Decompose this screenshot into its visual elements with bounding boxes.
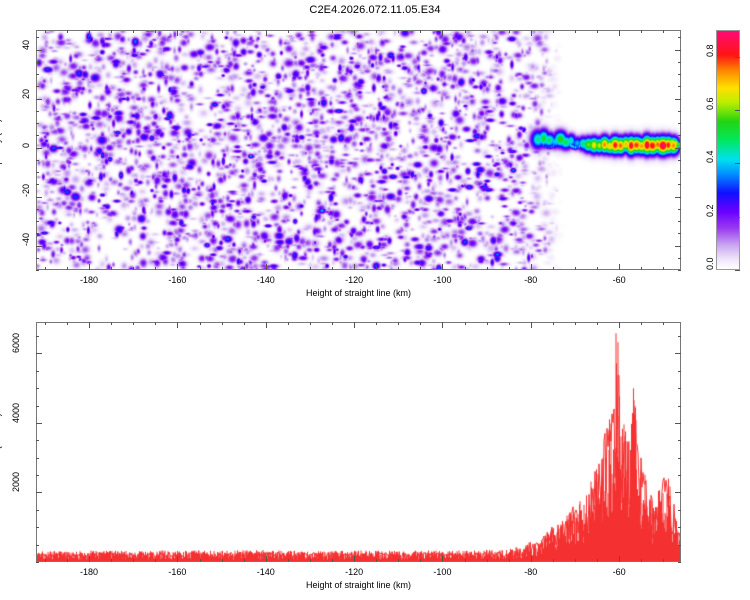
x-tick [641,559,642,562]
x-tick [663,559,664,562]
spectrogram-panel [36,30,681,270]
y-tick [36,37,39,38]
y-tick [675,353,681,354]
y-tick [36,111,39,112]
y-tick [36,492,42,493]
x-tick [398,559,399,562]
spectrogram-x-ticklabel: -160 [168,275,186,285]
x-tick [111,30,112,33]
x-tick [509,322,510,325]
y-tick [678,270,681,271]
x-tick [663,30,664,33]
y-tick [36,258,39,259]
spectrogram-image [36,30,681,270]
x-tick [45,267,46,270]
x-tick [575,267,576,270]
x-tick [155,559,156,562]
x-tick [354,322,355,328]
x-tick [89,556,90,562]
x-tick [45,30,46,33]
x-tick [200,322,201,325]
x-tick [487,267,488,270]
y-tick [678,209,681,210]
x-tick [487,322,488,325]
y-tick [36,62,39,63]
x-tick [354,30,355,36]
x-tick [597,267,598,270]
x-tick [89,264,90,270]
y-tick [36,74,39,75]
y-tick [675,246,681,247]
x-tick [155,267,156,270]
x-tick [553,267,554,270]
y-tick [36,160,39,161]
y-tick [36,148,42,149]
figure-root: C2E4.2026.072.11.05.E34 -180-160-140-120… [0,0,750,600]
x-tick [641,322,642,325]
x-tick [67,559,68,562]
x-tick [155,322,156,325]
x-tick [641,267,642,270]
y-tick [36,388,39,389]
figure-title: C2E4.2026.072.11.05.E34 [0,4,750,16]
colorbar [716,30,740,270]
spectrogram-x-ticklabel: -60 [613,275,626,285]
y-tick [36,209,39,210]
x-tick [575,559,576,562]
y-tick [36,423,42,424]
x-tick [398,30,399,33]
y-tick [678,184,681,185]
x-tick [200,559,201,562]
y-tick [678,388,681,389]
y-tick [678,258,681,259]
y-tick [36,123,39,124]
x-tick [244,30,245,33]
x-tick [288,322,289,325]
x-tick [266,30,267,36]
y-tick [678,475,681,476]
x-tick [89,30,90,36]
colorbar-tick [735,217,740,218]
y-tick [36,371,39,372]
y-tick [36,50,42,51]
x-tick [310,30,311,33]
x-tick [177,30,178,36]
x-tick [111,267,112,270]
colorbar-tick [735,110,740,111]
x-tick [663,267,664,270]
spectrogram-x-ticklabel: -120 [345,275,363,285]
x-tick [465,322,466,325]
x-tick [111,559,112,562]
snr-x-ticklabel: -120 [345,567,363,577]
x-tick [619,322,620,328]
x-tick [155,30,156,33]
spectrogram-plot-area [36,30,681,270]
x-tick [67,267,68,270]
x-tick [442,322,443,328]
x-tick [354,264,355,270]
spectrogram-x-ticklabel: -180 [80,275,98,285]
x-tick [398,267,399,270]
spectrogram-x-axis-title: Height of straight line (km) [306,288,411,298]
y-tick [36,527,39,528]
x-tick [575,322,576,325]
y-tick [678,221,681,222]
y-tick [675,492,681,493]
x-tick [376,322,377,325]
colorbar-tick [735,163,740,164]
x-tick [509,30,510,33]
colorbar-tick [735,270,740,271]
x-tick [487,30,488,33]
y-tick [36,475,39,476]
snr-x-ticklabel: -60 [613,567,626,577]
x-tick [332,322,333,325]
y-tick [678,562,681,563]
x-tick [310,267,311,270]
y-tick [675,99,681,100]
x-tick [420,267,421,270]
x-tick [376,267,377,270]
y-tick [678,160,681,161]
x-tick [597,30,598,33]
x-tick [398,322,399,325]
x-tick [222,322,223,325]
y-tick [678,86,681,87]
snr-x-ticklabel: -100 [433,567,451,577]
spectrogram-y-axis-title: Frequency (Hz) [0,119,2,181]
x-tick [200,30,201,33]
x-tick [354,556,355,562]
y-tick [36,545,39,546]
x-tick [332,267,333,270]
x-tick [244,559,245,562]
x-tick [177,322,178,328]
snr-x-ticklabel: -160 [168,567,186,577]
x-tick [133,559,134,562]
y-tick [36,510,39,511]
x-tick [244,322,245,325]
y-tick [678,527,681,528]
x-tick [288,559,289,562]
x-tick [200,267,201,270]
x-tick [376,559,377,562]
x-tick [111,322,112,325]
y-tick [36,458,39,459]
y-tick [36,406,39,407]
snr-x-ticklabel: -80 [524,567,537,577]
y-tick [36,86,39,87]
spectrogram-x-ticklabel: -80 [524,275,537,285]
x-tick [288,30,289,33]
colorbar-gradient [717,31,739,269]
y-tick [36,221,39,222]
x-tick [487,559,488,562]
x-tick [376,30,377,33]
x-tick [288,267,289,270]
x-tick [465,559,466,562]
x-tick [663,322,664,325]
x-tick [575,30,576,33]
y-tick [36,246,42,247]
x-tick [310,322,311,325]
x-tick [266,556,267,562]
x-tick [222,559,223,562]
y-tick [36,184,39,185]
x-tick [222,267,223,270]
y-tick [36,270,39,271]
x-tick [553,322,554,325]
y-tick [675,50,681,51]
y-tick [36,99,42,100]
x-tick [597,559,598,562]
colorbar-tick [735,57,740,58]
x-tick [553,559,554,562]
x-tick [442,264,443,270]
snr-y-axis-title: SNR (10 ° v/v) [0,413,2,471]
y-tick [36,440,39,441]
y-tick [675,197,681,198]
x-tick [531,30,532,36]
x-tick [531,264,532,270]
y-tick [678,233,681,234]
snr-plot-area [36,322,681,562]
x-tick [420,30,421,33]
x-tick [420,322,421,325]
snr-trace [36,322,681,562]
x-tick [553,30,554,33]
y-tick [678,111,681,112]
x-tick [332,559,333,562]
x-tick [619,264,620,270]
y-tick [678,458,681,459]
snr-x-axis-title: Height of straight line (km) [306,580,411,590]
x-tick [310,559,311,562]
y-tick [678,371,681,372]
x-tick [177,556,178,562]
snr-x-ticklabel: -140 [257,567,275,577]
x-tick [619,30,620,36]
x-tick [222,30,223,33]
y-tick [36,233,39,234]
x-tick [177,264,178,270]
x-tick [442,30,443,36]
x-tick [509,559,510,562]
y-tick [678,406,681,407]
x-tick [465,30,466,33]
y-tick [675,423,681,424]
x-tick [420,559,421,562]
spectrogram-x-ticklabel: -100 [433,275,451,285]
x-tick [531,322,532,328]
spectrogram-x-ticklabel: -140 [257,275,275,285]
x-tick [244,267,245,270]
x-tick [266,322,267,328]
x-tick [465,267,466,270]
snr-panel [36,322,681,562]
x-tick [133,267,134,270]
x-tick [133,322,134,325]
x-tick [332,30,333,33]
y-tick [678,74,681,75]
y-tick [36,172,39,173]
x-tick [67,30,68,33]
y-tick [678,62,681,63]
y-tick [678,37,681,38]
y-tick [678,172,681,173]
x-tick [531,556,532,562]
y-tick [678,123,681,124]
y-tick [678,440,681,441]
x-tick [45,559,46,562]
y-tick [678,135,681,136]
y-tick [36,562,39,563]
y-tick [675,148,681,149]
y-tick [678,336,681,337]
x-tick [89,322,90,328]
x-tick [619,556,620,562]
y-tick [36,336,39,337]
y-tick [36,353,42,354]
x-tick [133,30,134,33]
y-tick [678,545,681,546]
y-tick [36,135,39,136]
x-tick [509,267,510,270]
x-tick [67,322,68,325]
x-tick [641,30,642,33]
x-tick [266,264,267,270]
y-tick [678,510,681,511]
snr-x-ticklabel: -180 [80,567,98,577]
x-tick [442,556,443,562]
y-tick [36,197,42,198]
x-tick [45,322,46,325]
x-tick [597,322,598,325]
